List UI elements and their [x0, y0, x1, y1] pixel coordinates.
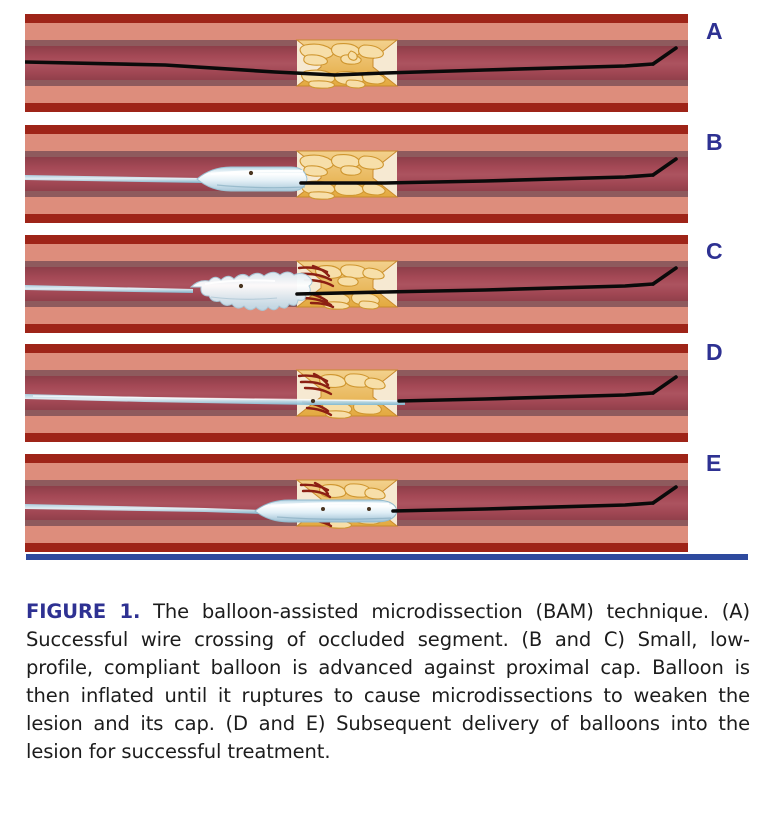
panel-e-overlay [25, 454, 688, 552]
marker-band [321, 507, 325, 511]
figure-caption: FIGURE 1. The balloon-assisted microdiss… [26, 598, 750, 766]
panel-b-overlay [25, 125, 688, 223]
panel-b-balloon-advanced [25, 125, 688, 223]
marker-band [239, 284, 243, 288]
panel-a-overlay [25, 14, 688, 112]
figure-image: A [0, 0, 772, 566]
atherosclerotic-plaque [297, 151, 397, 199]
figure-number-label: FIGURE 1. [26, 600, 140, 623]
atherosclerotic-plaque [297, 40, 397, 88]
panel-letter-c: C [706, 238, 756, 265]
figure-divider-rule [26, 554, 748, 560]
balloon-uninflated [197, 167, 307, 191]
balloon-ruptured [191, 272, 312, 311]
guidewire [399, 377, 676, 401]
panel-letter-e: E [706, 450, 756, 477]
balloon-catheter-shaft [25, 504, 261, 514]
panel-a-wire-crossing [25, 14, 688, 112]
marker-band [367, 507, 371, 511]
guidewire [393, 487, 676, 511]
balloon-inflated [255, 500, 397, 522]
balloon-catheter-shaft [25, 175, 203, 183]
panel-c-overlay [25, 235, 688, 333]
panel-letter-a: A [706, 18, 756, 45]
figure-caption-text: The balloon-assisted microdissection (BA… [26, 600, 750, 763]
balloon-catheter-shaft [25, 285, 193, 293]
panel-d-overlay [25, 344, 688, 442]
panel-c-balloon-ruptured [25, 235, 688, 333]
panel-letter-d: D [706, 339, 756, 366]
marker-band [311, 399, 315, 403]
panel-d-balloon-delivered [25, 344, 688, 442]
panel-e-balloon-inflated [25, 454, 688, 552]
panel-letter-b: B [706, 129, 756, 156]
marker-band [249, 171, 253, 175]
atherosclerotic-plaque [297, 370, 397, 418]
atherosclerotic-plaque [297, 261, 397, 309]
